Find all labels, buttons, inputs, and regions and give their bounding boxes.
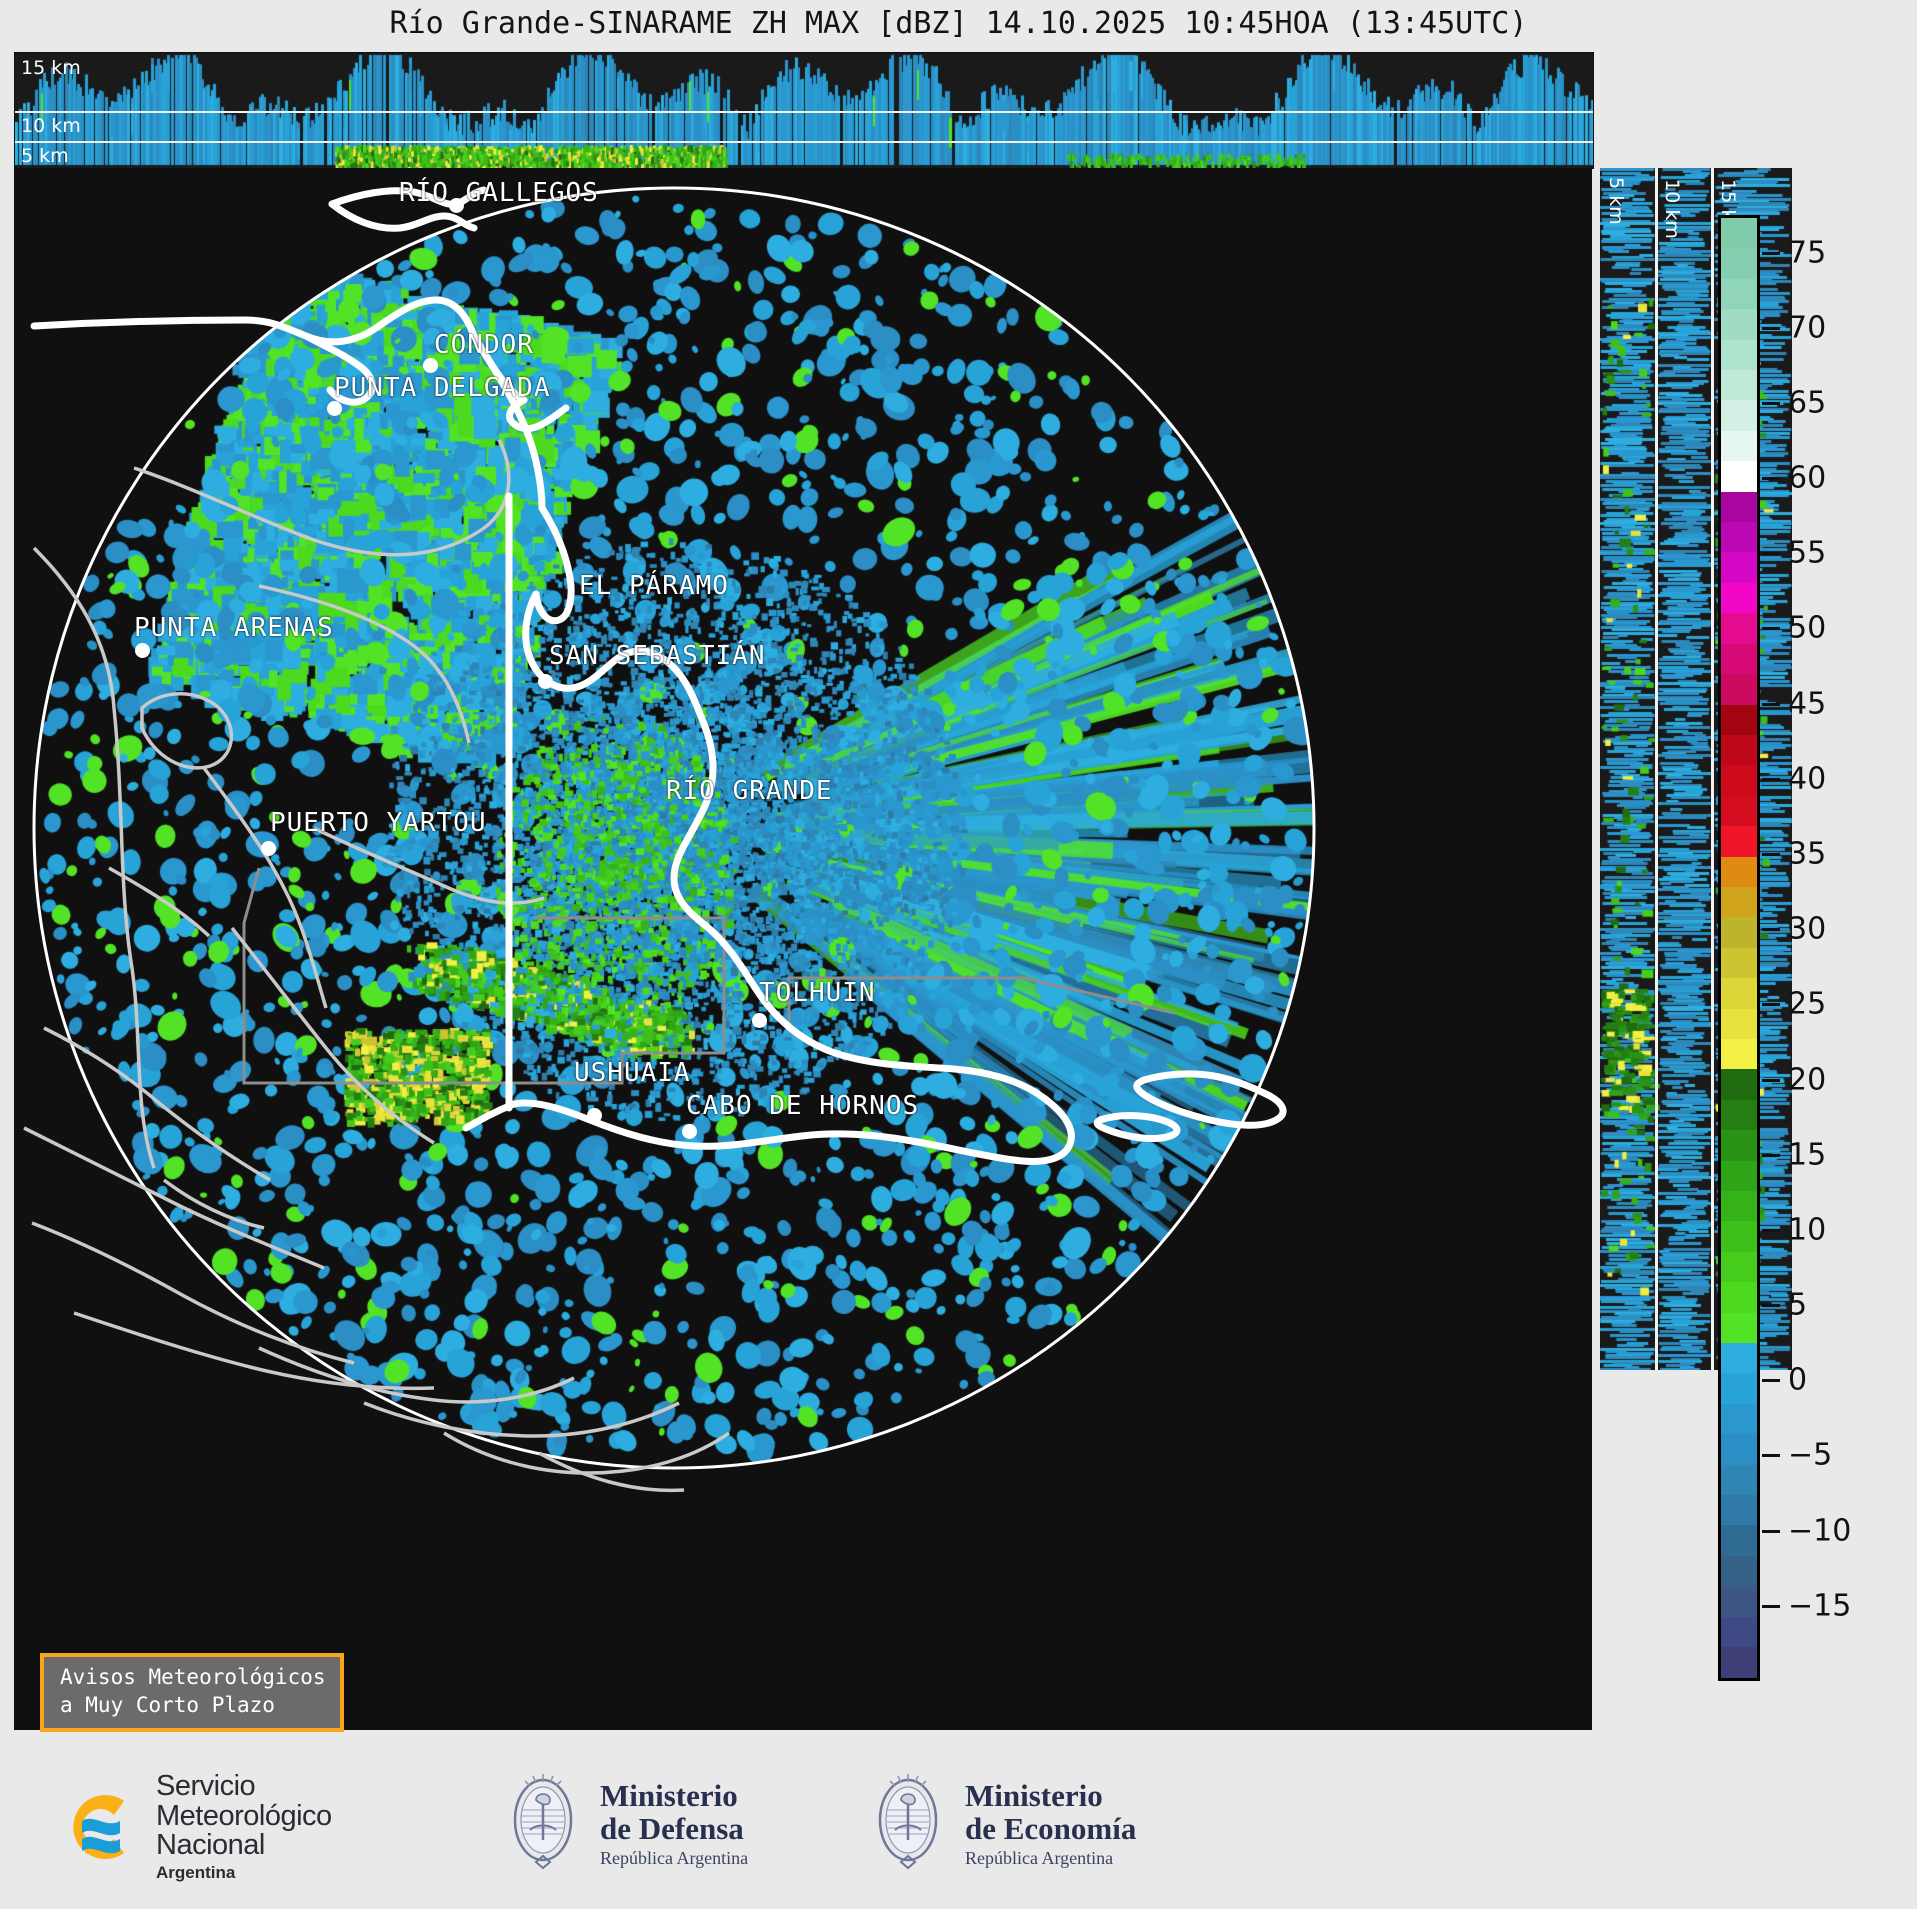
colorbar-segment bbox=[1721, 1495, 1757, 1525]
city-label: EL PÁRAMO bbox=[579, 571, 729, 601]
colorbar-tick bbox=[1762, 1229, 1780, 1232]
vertical-echo-layer bbox=[1600, 168, 1792, 1370]
colorbar-tick-label: 10 bbox=[1788, 1212, 1826, 1247]
colorbar-tick bbox=[1762, 552, 1780, 555]
colorbar-segment bbox=[1721, 917, 1757, 947]
colorbar-segment bbox=[1721, 826, 1757, 856]
colorbar-segment bbox=[1721, 735, 1757, 765]
colorbar-tick-label: 15 bbox=[1788, 1137, 1826, 1172]
colorbar-segment bbox=[1721, 857, 1757, 887]
city-label: TOLHUIN bbox=[759, 978, 876, 1008]
city-marker-dot[interactable] bbox=[538, 674, 553, 689]
colorbar-segment bbox=[1721, 1009, 1757, 1039]
province-borders bbox=[244, 868, 1174, 1083]
colorbar-segment bbox=[1721, 1100, 1757, 1130]
colorbar-segment bbox=[1721, 1556, 1757, 1586]
colorbar-segment bbox=[1721, 492, 1757, 522]
colorbar-segment bbox=[1721, 1130, 1757, 1160]
city-label: PUNTA ARENAS bbox=[134, 613, 334, 643]
colorbar-tick bbox=[1762, 402, 1780, 405]
colorbar-tick-label: 35 bbox=[1788, 837, 1826, 872]
colorbar-tick-label: 70 bbox=[1788, 310, 1826, 345]
colorbar-segment bbox=[1721, 279, 1757, 309]
logo-ministerio-defensa: Ministerio de Defensa República Argentin… bbox=[500, 1770, 748, 1878]
colorbar-segment bbox=[1721, 705, 1757, 735]
colorbar-segment bbox=[1721, 1525, 1757, 1555]
colorbar-segment bbox=[1721, 583, 1757, 613]
city-marker-dot[interactable] bbox=[327, 401, 342, 416]
coastline-primary bbox=[34, 190, 1283, 1161]
colorbar-segment bbox=[1721, 1191, 1757, 1221]
colorbar-tick-label: 50 bbox=[1788, 611, 1826, 646]
city-marker-dot[interactable] bbox=[682, 1124, 697, 1139]
radar-ppi-display[interactable]: RÍO GALLEGOSCÓNDORPUNTA DELGADAEL PÁRAMO… bbox=[14, 168, 1592, 1730]
defensa-sub: República Argentina bbox=[600, 1849, 748, 1868]
page-title: Río Grande-SINARAME ZH MAX [dBZ] 14.10.2… bbox=[0, 6, 1917, 41]
top-cross-section-panel: 15 km 10 km 5 km bbox=[14, 52, 1594, 169]
argentina-coat-of-arms-icon bbox=[500, 1770, 586, 1878]
colorbar-segment bbox=[1721, 522, 1757, 552]
colorbar-tick bbox=[1762, 627, 1780, 630]
city-marker-dot[interactable] bbox=[587, 1108, 602, 1123]
colorbar-tick bbox=[1762, 1454, 1780, 1457]
colorbar-segment bbox=[1721, 796, 1757, 826]
logo-smn: Servicio Meteorológico Nacional Argentin… bbox=[52, 1772, 332, 1881]
colorbar-segment bbox=[1721, 1252, 1757, 1282]
city-marker-dot[interactable] bbox=[752, 1013, 767, 1028]
colorbar-tick-label: 0 bbox=[1788, 1363, 1807, 1398]
vpanel-label-10km: 10 km bbox=[1661, 179, 1683, 239]
warning-line-2: a Muy Corto Plazo bbox=[60, 1693, 275, 1717]
economia-line-1: Ministerio bbox=[965, 1780, 1136, 1813]
xsec-label-5km: 5 km bbox=[21, 145, 69, 167]
dbz-colorbar bbox=[1718, 215, 1760, 1681]
colorbar-segment bbox=[1721, 552, 1757, 582]
colorbar-tick bbox=[1762, 853, 1780, 856]
argentina-coat-of-arms-icon-2 bbox=[865, 1770, 951, 1878]
colorbar-segment bbox=[1721, 1586, 1757, 1616]
colorbar-segment bbox=[1721, 765, 1757, 795]
colorbar-tick-label: −15 bbox=[1788, 1588, 1851, 1623]
smn-line-2: Meteorológico bbox=[156, 1802, 332, 1832]
economia-sub: República Argentina bbox=[965, 1849, 1136, 1868]
colorbar-segment bbox=[1721, 461, 1757, 491]
colorbar-segment bbox=[1721, 1373, 1757, 1403]
defensa-line-2: de Defensa bbox=[600, 1813, 748, 1846]
xsec-label-10km: 10 km bbox=[21, 115, 81, 137]
colorbar-tick bbox=[1762, 1379, 1780, 1382]
vpanel-label-5km: 5 km bbox=[1605, 177, 1627, 225]
colorbar-tick bbox=[1762, 1605, 1780, 1608]
colorbar-tick-label: 45 bbox=[1788, 686, 1826, 721]
colorbar-segment bbox=[1721, 948, 1757, 978]
colorbar-tick bbox=[1762, 1079, 1780, 1082]
colorbar-segment bbox=[1721, 1161, 1757, 1191]
city-label: RÍO GRANDE bbox=[666, 776, 833, 806]
radar-geography-overlay bbox=[14, 168, 1592, 1730]
colorbar-tick-label: 65 bbox=[1788, 385, 1826, 420]
colorbar-tick-label: 75 bbox=[1788, 235, 1826, 270]
city-label: CABO DE HORNOS bbox=[686, 1091, 919, 1121]
colorbar-tick-label: −5 bbox=[1788, 1438, 1832, 1473]
colorbar-segment bbox=[1721, 1434, 1757, 1464]
colorbar-segment bbox=[1721, 340, 1757, 370]
colorbar-tick-label: 25 bbox=[1788, 987, 1826, 1022]
colorbar-segment bbox=[1721, 1343, 1757, 1373]
smn-sub: Argentina bbox=[156, 1864, 332, 1881]
colorbar-tick bbox=[1762, 928, 1780, 931]
city-label: CÓNDOR bbox=[434, 330, 534, 360]
colorbar-tick bbox=[1762, 327, 1780, 330]
colorbar-tick bbox=[1762, 778, 1780, 781]
logo-ministerio-economia: Ministerio de Economía República Argenti… bbox=[865, 1770, 1136, 1878]
colorbar-segment bbox=[1721, 1069, 1757, 1099]
colorbar-tick-label: 55 bbox=[1788, 536, 1826, 571]
colorbar-segment bbox=[1721, 644, 1757, 674]
colorbar-segment bbox=[1721, 1404, 1757, 1434]
city-label: USHUAIA bbox=[574, 1058, 691, 1088]
colorbar-tick bbox=[1762, 477, 1780, 480]
colorbar-segment bbox=[1721, 887, 1757, 917]
colorbar-tick-label: −10 bbox=[1788, 1513, 1851, 1548]
colorbar-segment bbox=[1721, 431, 1757, 461]
colorbar-tick-label: 20 bbox=[1788, 1062, 1826, 1097]
colorbar-segment bbox=[1721, 309, 1757, 339]
colorbar-tick-label: 40 bbox=[1788, 761, 1826, 796]
colorbar-segment bbox=[1721, 1313, 1757, 1343]
colorbar-segment bbox=[1721, 1647, 1757, 1677]
city-label: PUNTA DELGADA bbox=[334, 373, 551, 403]
vertical-cross-section-panel: 5 km 10 km 15 km bbox=[1600, 168, 1792, 1370]
colorbar-tick bbox=[1762, 1530, 1780, 1533]
colorbar-segment bbox=[1721, 248, 1757, 278]
city-marker-dot[interactable] bbox=[261, 841, 276, 856]
warning-line-1: Avisos Meteorológicos bbox=[60, 1665, 326, 1689]
colorbar-tick bbox=[1762, 703, 1780, 706]
colorbar-tick bbox=[1762, 1003, 1780, 1006]
colorbar-segment bbox=[1721, 674, 1757, 704]
colorbar-segment bbox=[1721, 370, 1757, 400]
city-marker-dot[interactable] bbox=[423, 358, 438, 373]
city-label: SAN SEBASTIÁN bbox=[549, 641, 766, 671]
colorbar-segment bbox=[1721, 218, 1757, 248]
colorbar-tick-label: 60 bbox=[1788, 461, 1826, 496]
vpanel-divider-1 bbox=[1655, 168, 1658, 1370]
gridline-5km bbox=[15, 141, 1593, 143]
gridline-10km bbox=[15, 111, 1593, 113]
colorbar-tick-label: 5 bbox=[1788, 1288, 1807, 1323]
vpanel-divider-2 bbox=[1711, 168, 1714, 1370]
range-ring bbox=[34, 188, 1314, 1468]
colorbar-tick bbox=[1762, 252, 1780, 255]
colorbar-segment bbox=[1721, 1039, 1757, 1069]
city-label: RÍO GALLEGOS bbox=[399, 178, 599, 208]
xsec-label-15km: 15 km bbox=[21, 57, 81, 79]
colorbar-segment bbox=[1721, 1617, 1757, 1647]
colorbar-tick bbox=[1762, 1154, 1780, 1157]
smn-mark-icon bbox=[52, 1781, 144, 1873]
city-label: PUERTO YARTOU bbox=[270, 808, 487, 838]
smn-line-3: Nacional bbox=[156, 1831, 332, 1861]
colorbar-segment bbox=[1721, 613, 1757, 643]
colorbar-tick bbox=[1762, 1304, 1780, 1307]
colorbar-segment bbox=[1721, 978, 1757, 1008]
nowcast-warning-box: Avisos Meteorológicos a Muy Corto Plazo bbox=[40, 1653, 344, 1732]
smn-line-1: Servicio bbox=[156, 1772, 332, 1802]
colorbar-segment bbox=[1721, 400, 1757, 430]
economia-line-2: de Economía bbox=[965, 1813, 1136, 1846]
footer-logos: Servicio Meteorológico Nacional Argentin… bbox=[0, 1752, 1917, 1909]
city-marker-dot[interactable] bbox=[135, 643, 150, 658]
colorbar-segment bbox=[1721, 1465, 1757, 1495]
colorbar-segment bbox=[1721, 1221, 1757, 1251]
defensa-line-1: Ministerio bbox=[600, 1780, 748, 1813]
colorbar-segment bbox=[1721, 1282, 1757, 1312]
colorbar-tick-label: 30 bbox=[1788, 912, 1826, 947]
